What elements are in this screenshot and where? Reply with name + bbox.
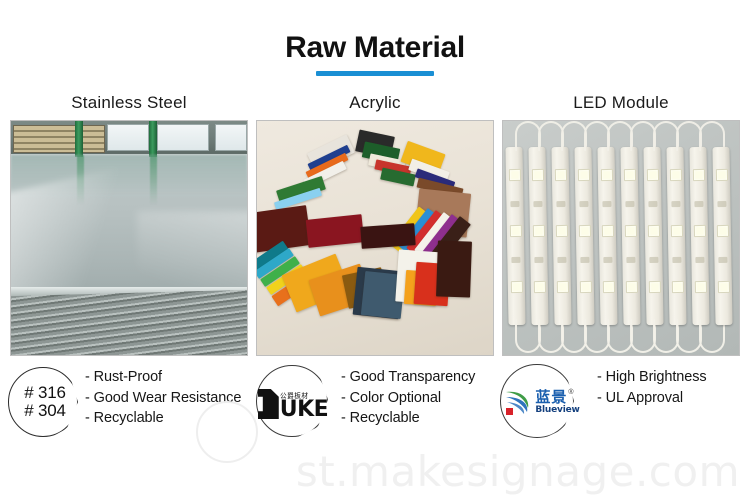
duke-chinese-name: 公爵板材 xyxy=(280,393,326,400)
duke-wordmark: 公爵板材 UKE xyxy=(280,393,328,419)
led-chip xyxy=(602,281,614,293)
feature-item: - Good Wear Resistance xyxy=(85,388,241,409)
warehouse-window xyxy=(157,124,209,151)
steel-grade-304: # 304 xyxy=(24,402,66,420)
photo-led-module xyxy=(502,120,740,356)
led-module xyxy=(574,147,594,325)
led-chip xyxy=(579,281,591,293)
led-module xyxy=(551,147,571,325)
photo-acrylic xyxy=(256,120,494,356)
feature-item: - Good Transparency xyxy=(341,367,475,388)
led-solder-pad xyxy=(694,201,703,207)
led-module xyxy=(505,147,525,325)
led-chip xyxy=(717,281,729,293)
steel-grade-list: # 316 # 304 xyxy=(22,384,66,420)
led-chip xyxy=(647,225,659,237)
material-features: # 316 # 304 - Rust-Proof - Good Wear Res… xyxy=(0,366,750,438)
steel-grade-badge: # 316 # 304 xyxy=(6,366,82,438)
feature-list-acrylic: - Good Transparency - Color Optional - R… xyxy=(338,366,475,429)
feature-block-led-module: 蓝景 ® Blueview - High Brightness - UL App… xyxy=(498,366,744,438)
led-solder-pad xyxy=(695,257,704,263)
column-acrylic: Acrylic xyxy=(252,90,498,356)
registered-trademark-icon: ® xyxy=(568,389,573,396)
title-underline-accent xyxy=(316,71,434,76)
led-chip xyxy=(646,169,658,181)
led-solder-pad xyxy=(717,201,726,207)
steel-grade-316: # 316 xyxy=(24,384,66,402)
led-chip xyxy=(533,281,545,293)
led-solder-pad xyxy=(580,257,589,263)
warehouse-green-column xyxy=(149,121,157,157)
acrylic-sheet xyxy=(360,223,415,249)
led-chip xyxy=(624,225,636,237)
site-watermark: st.makesignage.com xyxy=(0,451,750,493)
steel-sheet-stack xyxy=(10,290,248,356)
acrylic-sheet xyxy=(306,214,365,248)
led-chip xyxy=(669,169,681,181)
column-reflection xyxy=(150,155,157,205)
led-chip xyxy=(508,169,520,181)
warehouse-window xyxy=(215,124,247,151)
led-chip xyxy=(555,225,567,237)
blueview-logo-badge: 蓝景 ® Blueview xyxy=(498,366,594,438)
duke-d-glyph-icon xyxy=(258,389,279,419)
led-chip xyxy=(623,169,635,181)
led-module xyxy=(666,147,686,325)
led-chip xyxy=(625,281,637,293)
raw-material-page: Raw Material Stainless Steel xyxy=(0,0,750,497)
column-stainless-steel: Stainless Steel xyxy=(6,90,252,356)
led-chip xyxy=(670,225,682,237)
led-module xyxy=(689,147,709,325)
column-led-module: LED Module xyxy=(498,90,744,356)
feature-item: - High Brightness xyxy=(597,367,707,388)
led-chip xyxy=(577,169,589,181)
led-chip xyxy=(692,169,704,181)
led-solder-pad xyxy=(533,201,542,207)
led-chip xyxy=(715,169,727,181)
duke-logo-badge: 公爵板材 UKE xyxy=(252,366,338,438)
led-chip xyxy=(671,281,683,293)
led-chip xyxy=(556,281,568,293)
led-solder-pad xyxy=(511,257,520,263)
led-chip xyxy=(716,225,728,237)
blueview-swoosh-icon xyxy=(504,388,532,418)
led-solder-pad xyxy=(579,201,588,207)
photo-stainless-steel xyxy=(10,120,248,356)
material-columns: Stainless Steel Acrylic xyxy=(0,90,750,356)
led-solder-pad xyxy=(557,257,566,263)
led-solder-pad xyxy=(626,257,635,263)
led-solder-pad xyxy=(602,201,611,207)
led-solder-pad xyxy=(510,201,519,207)
blueview-latin-name: Blueview xyxy=(535,405,579,415)
led-solder-pad xyxy=(556,201,565,207)
led-chip xyxy=(554,169,566,181)
duke-logo: 公爵板材 UKE xyxy=(258,389,328,419)
feature-item: - UL Approval xyxy=(597,388,707,409)
led-module xyxy=(643,147,663,325)
feature-item: - Rust-Proof xyxy=(85,367,241,388)
led-solder-pad xyxy=(649,257,658,263)
warehouse-window xyxy=(107,124,149,151)
blueview-chinese-row: 蓝景 ® xyxy=(535,390,573,405)
feature-list-led-module: - High Brightness - UL Approval xyxy=(594,366,707,408)
led-module xyxy=(620,147,640,325)
duke-latin-name: UKE xyxy=(280,401,328,419)
feature-block-acrylic: 公爵板材 UKE - Good Transparency - Color Opt… xyxy=(252,366,498,438)
led-chip xyxy=(531,169,543,181)
warehouse-green-column xyxy=(75,121,83,157)
acrylic-sheet xyxy=(436,240,472,297)
led-chip xyxy=(600,169,612,181)
blueview-logo: 蓝景 ® Blueview xyxy=(504,388,579,418)
led-chip xyxy=(601,225,613,237)
led-module xyxy=(528,147,548,325)
led-solder-pad xyxy=(534,257,543,263)
column-heading-acrylic: Acrylic xyxy=(252,90,498,116)
blueview-chinese-name: 蓝景 xyxy=(535,390,567,405)
led-chip xyxy=(532,225,544,237)
led-chip xyxy=(509,225,521,237)
led-chip xyxy=(510,281,522,293)
led-solder-pad xyxy=(625,201,634,207)
column-heading-stainless-steel: Stainless Steel xyxy=(6,90,252,116)
warehouse-rack xyxy=(13,125,105,153)
page-header: Raw Material xyxy=(0,0,750,76)
led-solder-pad xyxy=(671,201,680,207)
page-title: Raw Material xyxy=(0,33,750,63)
column-heading-led-module: LED Module xyxy=(498,90,744,116)
feature-item: - Color Optional xyxy=(341,388,475,409)
feature-item: - Recyclable xyxy=(85,408,241,429)
led-solder-pad xyxy=(718,257,727,263)
led-chip xyxy=(694,281,706,293)
feature-list-stainless-steel: - Rust-Proof - Good Wear Resistance - Re… xyxy=(82,366,241,429)
led-module xyxy=(597,147,617,325)
led-chip xyxy=(578,225,590,237)
led-chip xyxy=(693,225,705,237)
feature-item: - Recyclable xyxy=(341,408,475,429)
blueview-wordmark: 蓝景 ® Blueview xyxy=(535,390,579,415)
led-module xyxy=(712,147,732,325)
feature-block-stainless-steel: # 316 # 304 - Rust-Proof - Good Wear Res… xyxy=(6,366,252,438)
led-solder-pad xyxy=(603,257,612,263)
led-solder-pad xyxy=(648,201,657,207)
led-solder-pad xyxy=(672,257,681,263)
led-chip xyxy=(648,281,660,293)
